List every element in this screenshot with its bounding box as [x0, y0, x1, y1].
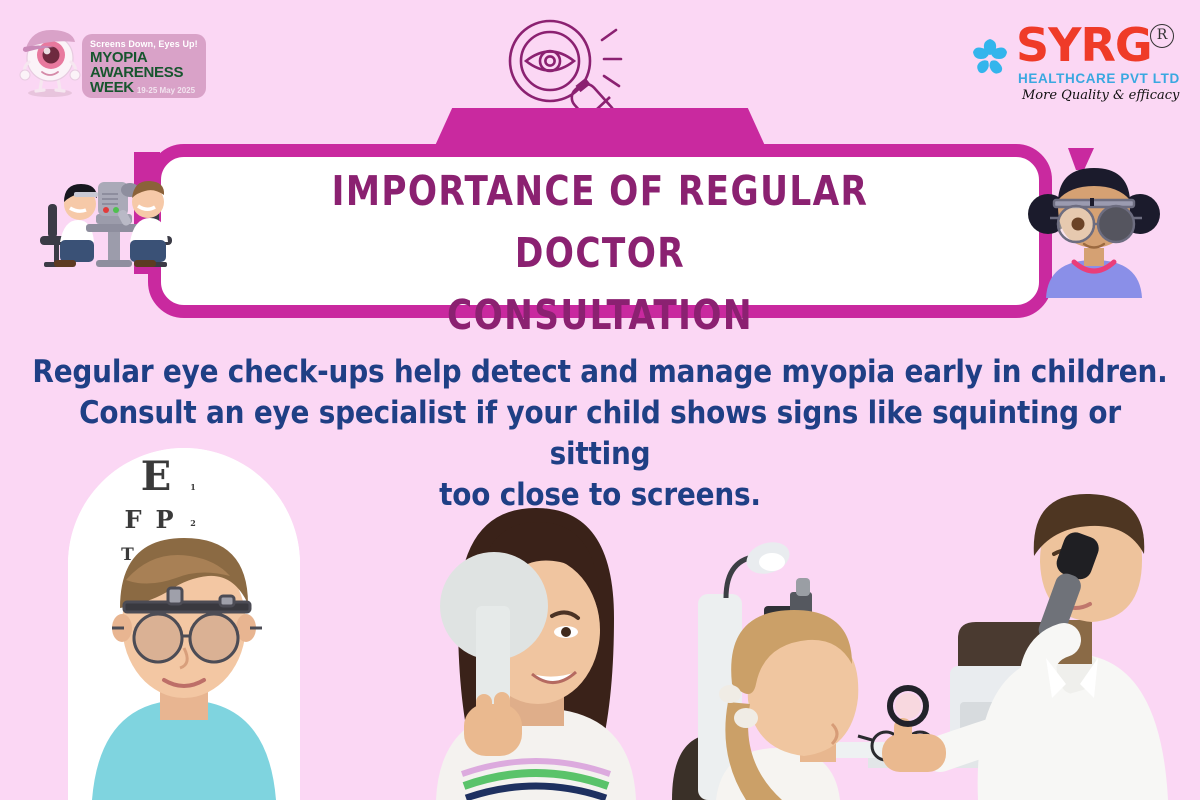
title-line-1: IMPORTANCE OF REGULAR DOCTOR [269, 160, 931, 284]
eyeball-mascot-icon [14, 22, 86, 98]
logo-tagline: More Quality & efficacy [1022, 88, 1179, 103]
svg-text:1: 1 [190, 482, 196, 492]
body-line-1: Regular eye check-ups help detect and ma… [28, 352, 1172, 393]
awareness-line-1: MYOPIA [90, 50, 198, 65]
page-title: IMPORTANCE OF REGULAR DOCTOR CONSULTATIO… [269, 160, 931, 346]
poster-canvas: Screens Down, Eyes Up! MYOPIA AWARENESS … [0, 0, 1200, 800]
photo-girl-with-occluder [402, 498, 670, 800]
eye-exam-scene-illustration [38, 152, 188, 282]
svg-text:2: 2 [190, 518, 196, 528]
awareness-dates: 19-25 May 2025 [137, 86, 195, 95]
logo-brand-text: SYRG [1016, 22, 1152, 68]
myopia-awareness-badge: Screens Down, Eyes Up! MYOPIA AWARENESS … [14, 16, 204, 100]
awareness-badge-plate: Screens Down, Eyes Up! MYOPIA AWARENESS … [82, 34, 206, 98]
photo-boy-with-trial-frames: E FP TOZ 1 2 3 [68, 448, 300, 800]
eye-chart-row-1: E [141, 453, 172, 500]
awareness-line-2: AWARENESS [90, 65, 198, 80]
registered-trademark-icon: R [1150, 24, 1174, 48]
girl-with-phoropter-illustration [1024, 148, 1164, 298]
title-line-2: CONSULTATION [269, 284, 931, 346]
photo-doctor-examining-child [672, 470, 1200, 800]
logo-subtitle: HEALTHCARE PVT LTD [1018, 71, 1180, 86]
flower-icon [970, 36, 1010, 76]
title-banner: IMPORTANCE OF REGULAR DOCTOR CONSULTATIO… [148, 108, 1052, 318]
awareness-line-3: WEEK [90, 80, 134, 95]
syrg-logo: SYRG HEALTHCARE PVT LTD More Quality & e… [970, 14, 1180, 106]
eye-chart-row-2: FP [124, 505, 187, 534]
